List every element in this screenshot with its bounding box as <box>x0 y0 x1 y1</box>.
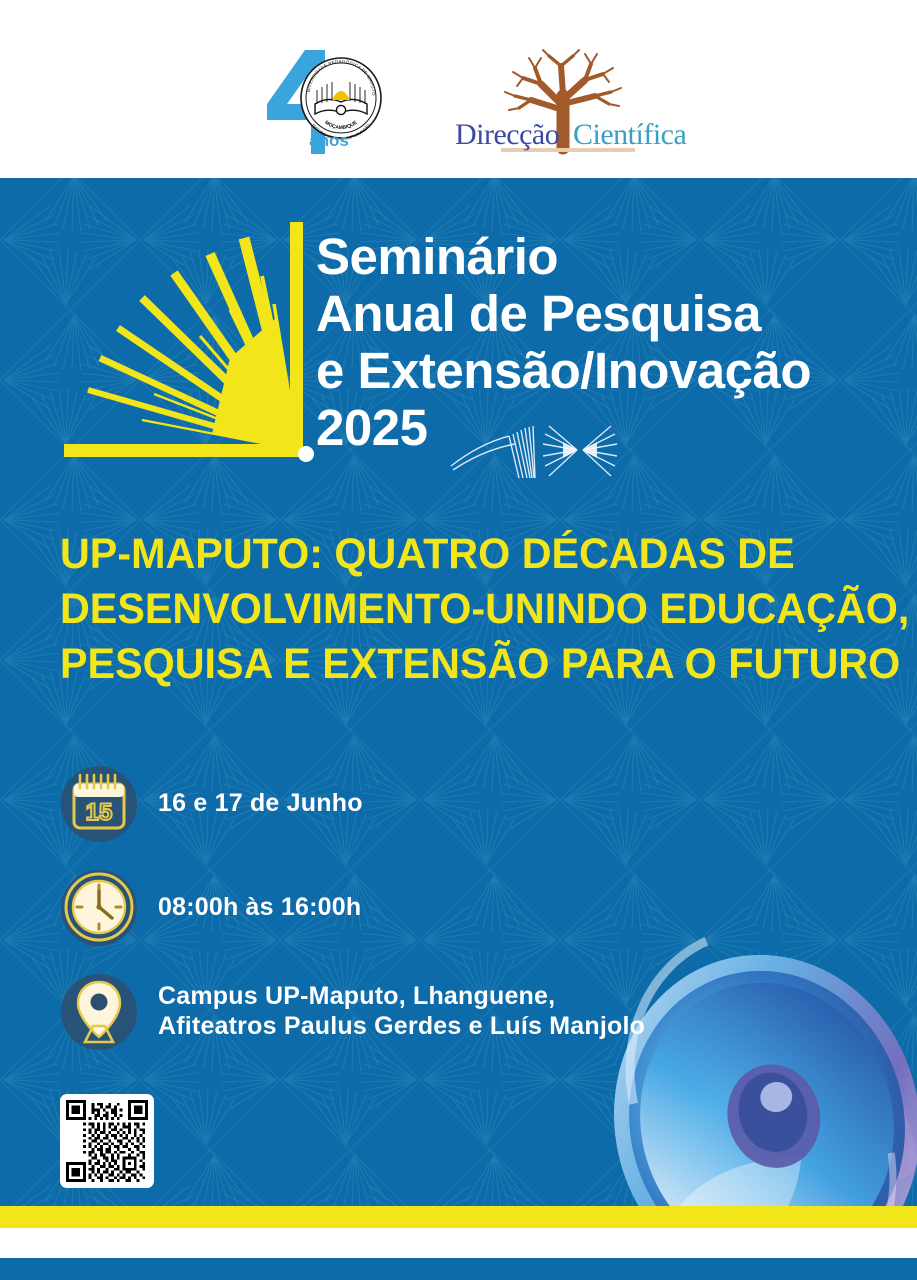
event-subtitle: UP-MAPUTO: QUATRO DÉCADAS DE DESENVOLVIM… <box>60 527 890 692</box>
subtitle-line-1: UP-MAPUTO: QUATRO DÉCADAS DE <box>60 527 857 582</box>
detail-text-date: 16 e 17 de Junho <box>140 788 363 818</box>
direccao-word: Direcção <box>455 118 559 151</box>
sunburst-book-graphic <box>62 218 330 470</box>
title-line-1: Seminário <box>316 228 811 285</box>
qr-code[interactable] <box>60 1094 154 1188</box>
up-maputo-40-anos-logo: UNIVERSIDADE PEDAGÓGICA DE MAPUTO MOÇAMB… <box>255 42 405 162</box>
anos-label: anos <box>309 131 349 150</box>
detail-time-line-1: 08:00h às 16:00h <box>158 892 361 922</box>
title-line-3: e Extensão/Inovação <box>316 342 811 399</box>
detail-location-line-2: Afiteatros Paulus Gerdes e Luís Manjolo <box>158 1011 645 1041</box>
event-title: Seminário Anual de Pesquisa e Extensão/I… <box>316 228 811 456</box>
bottom-white-bar <box>0 1228 917 1258</box>
subtitle-line-3: PESQUISA E EXTENSÃO PARA O FUTURO <box>60 637 857 692</box>
location-pin-icon <box>58 970 140 1052</box>
detail-text-time: 08:00h às 16:00h <box>140 892 361 922</box>
poster-header: UNIVERSIDADE PEDAGÓGICA DE MAPUTO MOÇAMB… <box>0 0 917 178</box>
detail-row-date: 15 16 e 17 de Junho <box>58 762 645 844</box>
direccao-cientifica-logo: Direcção Científica <box>443 48 693 168</box>
clock-icon <box>58 866 140 948</box>
title-line-4-year: 2025 <box>316 399 811 456</box>
calendar-icon: 15 <box>58 762 140 844</box>
poster: Seminário Anual de Pesquisa e Extensão/I… <box>0 0 917 1280</box>
detail-date-line-1: 16 e 17 de Junho <box>158 788 363 818</box>
qr-code-image <box>66 1100 148 1182</box>
event-details: 15 16 e 17 de Junho <box>58 762 645 1074</box>
detail-row-time: 08:00h às 16:00h <box>58 866 645 948</box>
bottom-yellow-bar <box>0 1206 917 1228</box>
cientifica-word: Científica <box>573 118 686 151</box>
bottom-blue-bar <box>0 1258 917 1280</box>
detail-text-location: Campus UP-Maputo, Lhanguene, Afiteatros … <box>140 981 645 1041</box>
calendar-day-number: 15 <box>86 799 113 826</box>
detail-location-line-1: Campus UP-Maputo, Lhanguene, <box>158 981 645 1011</box>
detail-row-location: Campus UP-Maputo, Lhanguene, Afiteatros … <box>58 970 645 1052</box>
subtitle-line-2: DESENVOLVIMENTO-UNINDO EDUCAÇÃO, <box>60 582 857 637</box>
title-line-2: Anual de Pesquisa <box>316 285 811 342</box>
